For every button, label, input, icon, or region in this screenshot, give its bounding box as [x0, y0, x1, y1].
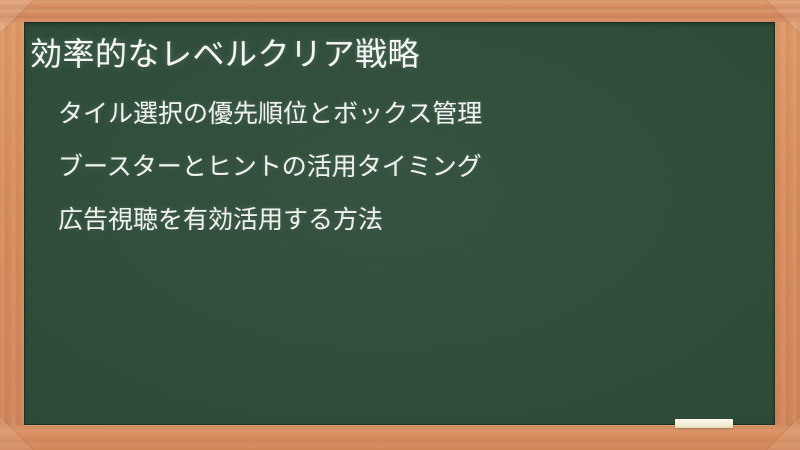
wood-frame-top-rail: [0, 0, 800, 22]
list-item: 広告視聴を有効活用する方法: [58, 208, 482, 233]
chalkboard: 効率的なレベルクリア戦略 タイル選択の優先順位とボックス管理 ブースターとヒント…: [24, 22, 775, 425]
slide-canvas: 効率的なレベルクリア戦略 タイル選択の優先順位とボックス管理 ブースターとヒント…: [0, 0, 800, 450]
wood-frame-bottom-ledge: [0, 425, 800, 450]
slide-bullet-list: タイル選択の優先順位とボックス管理 ブースターとヒントの活用タイミング 広告視聴…: [58, 102, 482, 233]
list-item: タイル選択の優先順位とボックス管理: [58, 102, 482, 127]
chalk-stick: [675, 419, 733, 428]
chalkboard-content: 効率的なレベルクリア戦略 タイル選択の優先順位とボックス管理 ブースターとヒント…: [24, 22, 775, 425]
list-item: ブースターとヒントの活用タイミング: [58, 155, 482, 180]
slide-title: 効率的なレベルクリア戦略: [30, 34, 420, 74]
